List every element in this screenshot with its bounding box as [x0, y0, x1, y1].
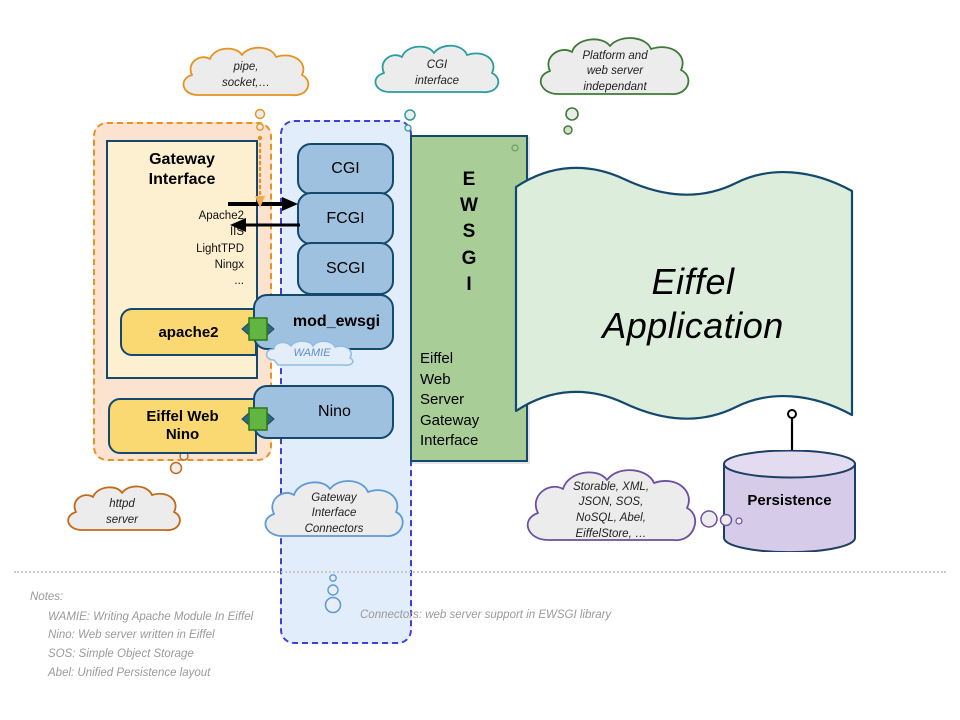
- apache2-server-box[interactable]: apache2: [120, 308, 257, 356]
- eiffel-application-flag: Eiffel Application: [512, 165, 874, 445]
- pipe-socket-cloud: pipe, socket,…: [176, 45, 316, 107]
- ewsgi-anchor-dot: [508, 141, 522, 155]
- eiffel-web-nino-label-line2: Nino: [166, 426, 199, 443]
- note-item: Nino: Web server written in Eiffel: [30, 626, 930, 645]
- notes-divider: [14, 571, 946, 575]
- cgi-interface-cloud: CGI interface: [368, 44, 506, 104]
- note-item: SOS: Simple Object Storage: [30, 645, 930, 664]
- eiffel-web-nino-box[interactable]: Eiffel Web Nino: [108, 398, 257, 454]
- ewsgi-acronym: E W S G I: [412, 167, 526, 298]
- httpd-server-cloud: httpd server: [62, 484, 182, 542]
- fcgi-connector-box[interactable]: FCGI: [297, 192, 394, 245]
- eiffel-application-label: Eiffel Application: [512, 260, 874, 348]
- note-item: Abel: Unified Persistence layout: [30, 664, 930, 683]
- persistence-cylinder[interactable]: Persistence: [722, 450, 857, 552]
- persistence-cloud-tail: [700, 505, 746, 533]
- gateway-interface-title-line2: Interface: [149, 171, 216, 188]
- ewsgi-letter: S: [412, 219, 526, 245]
- cgi-label: CGI: [331, 160, 359, 178]
- ewsgi-expansion: Eiffel Web Server Gateway Interface: [420, 349, 479, 452]
- ewsgi-letter: I: [412, 272, 526, 298]
- server-list-item: LightTPD: [196, 241, 244, 257]
- gateway-interface-title: Gateway Interface: [108, 150, 256, 190]
- ewsgi-expansion-word: Server: [420, 390, 479, 411]
- notes-section: Notes: WAMIE: Writing Apache Module In E…: [30, 588, 930, 682]
- ewsgi-letter: W: [412, 193, 526, 219]
- pipe-socket-pointer: [248, 108, 272, 212]
- apache2-label: apache2: [158, 324, 218, 341]
- server-list-item: Ningx: [196, 257, 244, 273]
- platform-independant-cloud: Platform and web server independant: [532, 36, 698, 108]
- ewsgi-expansion-word: Eiffel: [420, 349, 479, 370]
- eiffel-application-label-line2: Application: [602, 305, 784, 346]
- mod-ewsgi-label: mod_ewsgi: [267, 313, 380, 331]
- ewsgi-letter: G: [412, 246, 526, 272]
- plug-connector-icon: [238, 310, 278, 348]
- gateway-interface-connectors-cloud: Gateway Interface Connectors: [258, 478, 410, 550]
- persistence-technologies-cloud: Storable, XML, JSON, SOS, NoSQL, Abel, E…: [518, 466, 704, 556]
- scgi-connector-box[interactable]: SCGI: [297, 242, 394, 295]
- notes-heading: Notes:: [30, 588, 930, 607]
- ewsgi-expansion-word: Web: [420, 370, 479, 391]
- gateway-interface-title-line1: Gateway: [149, 151, 215, 168]
- server-list-item: ...: [196, 273, 244, 289]
- nino-label: Nino: [296, 403, 351, 421]
- note-right: Connectors: web server support in EWSGI …: [360, 606, 611, 625]
- ewsgi-letter: E: [412, 167, 526, 193]
- eiffel-application-label-line1: Eiffel: [651, 261, 734, 302]
- ewsgi-expansion-word: Gateway: [420, 411, 479, 432]
- scgi-label: SCGI: [326, 260, 365, 278]
- ewsgi-panel: E W S G I Eiffel Web Server Gateway Inte…: [410, 135, 528, 462]
- platform-independant-pointer: [558, 106, 584, 144]
- fcgi-label: FCGI: [326, 210, 364, 228]
- ewsgi-expansion-word: Interface: [420, 431, 479, 452]
- eiffel-web-nino-label-line1: Eiffel Web: [146, 408, 218, 425]
- cgi-connector-box[interactable]: CGI: [297, 143, 394, 195]
- plug-connector-icon: [238, 400, 278, 438]
